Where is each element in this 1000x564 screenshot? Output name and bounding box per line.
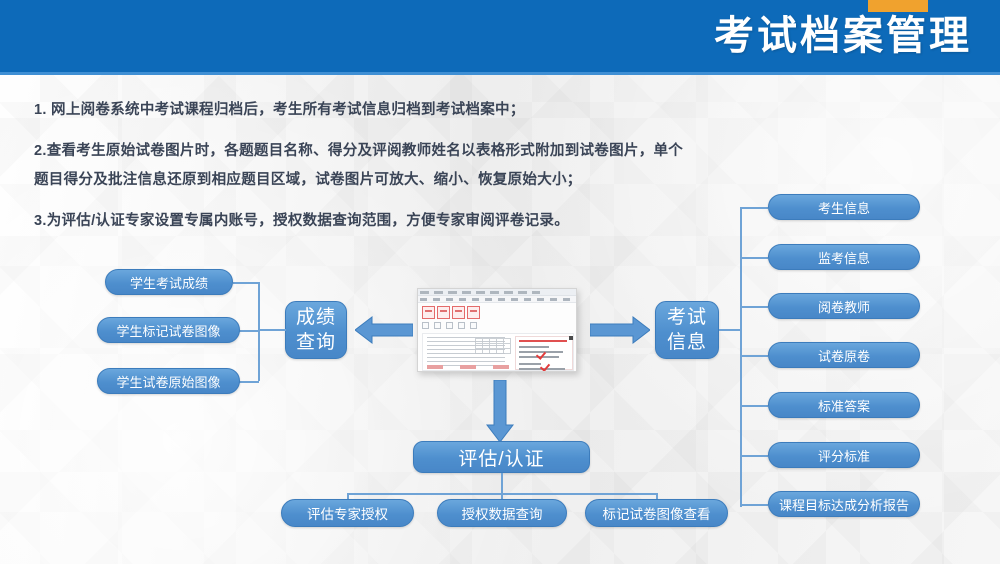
doc-menu-items bbox=[420, 298, 570, 301]
hub-score-query-line2: 查询 bbox=[296, 330, 336, 355]
score-cell bbox=[452, 306, 465, 319]
hub-evaluation-certification[interactable]: 评估/认证 bbox=[413, 441, 590, 473]
node-course-goal-report[interactable]: 课程目标达成分析报告 bbox=[768, 491, 920, 517]
score-cell bbox=[467, 306, 480, 319]
left-trunk bbox=[258, 282, 260, 381]
node-candidate-info[interactable]: 考生信息 bbox=[768, 194, 920, 220]
doc-menu-bar bbox=[418, 296, 576, 303]
toolbar-icon bbox=[458, 322, 465, 329]
right-branch-1 bbox=[740, 207, 768, 209]
arrow-down bbox=[484, 380, 516, 442]
doc-title-bar bbox=[418, 289, 576, 296]
right-trunk bbox=[740, 207, 742, 507]
header-underline bbox=[0, 72, 1000, 75]
body-text-block: 1. 网上阅卷系统中考试课程归档后，考生所有考试信息归档到考试档案中； 2.查看… bbox=[34, 96, 694, 248]
right-branch-6 bbox=[740, 455, 768, 457]
node-student-exam-score[interactable]: 学生考试成绩 bbox=[105, 269, 233, 295]
node-student-original-paper-image[interactable]: 学生试卷原始图像 bbox=[97, 368, 240, 394]
doc-toolbar-icons bbox=[422, 322, 477, 329]
right-stem bbox=[719, 329, 741, 331]
bottom-stem bbox=[501, 473, 503, 493]
hub-exam-info-line1: 考试 bbox=[667, 305, 707, 330]
node-scoring-criteria[interactable]: 评分标准 bbox=[768, 442, 920, 468]
node-standard-answer[interactable]: 标准答案 bbox=[768, 392, 920, 418]
node-authorized-data-query[interactable]: 授权数据查询 bbox=[437, 499, 567, 527]
node-expert-authorization[interactable]: 评估专家授权 bbox=[281, 499, 414, 527]
doc-annotation-panel bbox=[515, 336, 573, 370]
hub-exam-info-line2: 信息 bbox=[667, 330, 707, 355]
node-invigilation-info[interactable]: 监考信息 bbox=[768, 244, 920, 270]
paragraph-2: 2.查看考生原始试卷图片时，各题题目名称、得分及评阅教师姓名以表格形式附加到试卷… bbox=[34, 137, 694, 195]
doc-page-area bbox=[422, 333, 574, 371]
doc-score-cells bbox=[422, 306, 480, 319]
paragraph-3: 3.为评估/认证专家设置专属内账号，授权数据查询范围，方便专家审阅评卷记录。 bbox=[34, 207, 694, 236]
toolbar-icon bbox=[422, 322, 429, 329]
right-branch-3 bbox=[740, 306, 768, 308]
left-stem bbox=[258, 329, 286, 331]
hub-score-query-line1: 成绩 bbox=[296, 305, 336, 330]
doc-marker-dot bbox=[569, 336, 573, 340]
paragraph-1: 1. 网上阅卷系统中考试课程归档后，考生所有考试信息归档到考试档案中； bbox=[34, 96, 694, 125]
bottom-cell bbox=[493, 365, 509, 369]
right-branch-2 bbox=[740, 257, 768, 259]
arrow-left bbox=[355, 314, 413, 346]
bottom-cell bbox=[427, 365, 443, 369]
arrow-right bbox=[590, 314, 650, 346]
doc-title-text bbox=[420, 291, 540, 294]
bottom-cell bbox=[460, 365, 476, 369]
toolbar-icon bbox=[470, 322, 477, 329]
hub-score-query[interactable]: 成绩 查询 bbox=[285, 301, 347, 359]
toolbar-icon bbox=[434, 322, 441, 329]
score-cell bbox=[437, 306, 450, 319]
doc-bottom-cells bbox=[427, 365, 509, 369]
slide-canvas: 考试档案管理 1. 网上阅卷系统中考试课程归档后，考生所有考试信息归档到考试档案… bbox=[0, 0, 1000, 564]
doc-answer-grid bbox=[475, 338, 511, 354]
node-marked-paper-image-view[interactable]: 标记试卷图像查看 bbox=[585, 499, 728, 527]
score-cell bbox=[422, 306, 435, 319]
left-branch-1 bbox=[233, 282, 259, 284]
right-branch-7 bbox=[740, 504, 768, 506]
hub-exam-info[interactable]: 考试 信息 bbox=[655, 301, 719, 359]
toolbar-icon bbox=[446, 322, 453, 329]
node-grading-teacher[interactable]: 阅卷教师 bbox=[768, 293, 920, 319]
right-branch-5 bbox=[740, 405, 768, 407]
node-student-marked-paper-image[interactable]: 学生标记试卷图像 bbox=[97, 317, 240, 343]
exam-paper-screenshot[interactable] bbox=[417, 288, 577, 372]
red-check-mark bbox=[540, 361, 550, 372]
page-title: 考试档案管理 bbox=[714, 11, 972, 61]
right-branch-4 bbox=[740, 355, 768, 357]
node-original-paper[interactable]: 试卷原卷 bbox=[768, 342, 920, 368]
